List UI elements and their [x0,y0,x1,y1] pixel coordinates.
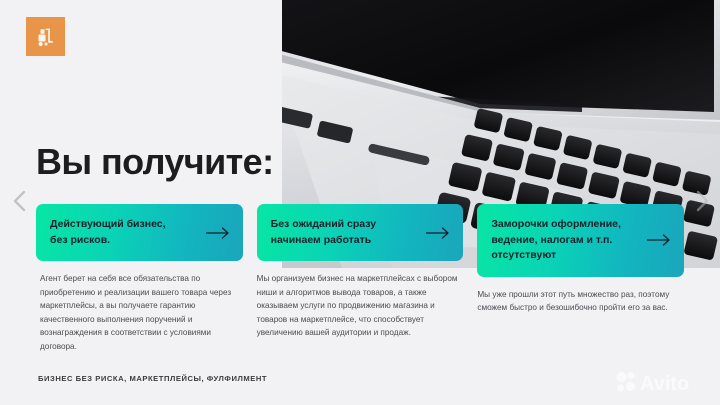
chevron-left-icon [6,186,34,216]
benefit-card-3[interactable]: Заморочки оформление, ведение, налогам и… [477,204,684,277]
footer-tags: БИЗНЕС БЕЗ РИСКА, МАРКЕТПЛЕЙСЫ, ФУЛФИЛМЕ… [38,374,267,383]
benefit-card-1[interactable]: Действующий бизнес, без рисков. [36,204,243,261]
benefit-body-text: Мы уже прошли этот путь множество раз, п… [477,288,684,315]
benefit-body-text: Мы организуем бизнес на маркетплейсах с … [257,272,464,340]
benefit-column-3: Заморочки оформление, ведение, налогам и… [477,204,684,354]
benefit-card-title: Без ожиданий сразу начинаем работать [271,217,376,248]
avito-wordmark: Avito [640,373,689,395]
chevron-right-icon [688,186,716,216]
benefit-body-text: Агент берет на себя все обязательства по… [36,272,243,354]
arrow-right-icon [426,227,452,239]
arrow-right-icon [647,234,673,246]
forklift-icon [34,25,58,49]
benefit-card-2[interactable]: Без ожиданий сразу начинаем работать [257,204,464,261]
slide-container: Вы получите: Действующий бизнес, без рис… [0,0,720,405]
benefit-column-1: Действующий бизнес, без рисков. Агент бе… [36,204,243,354]
avito-watermark: Avito [614,368,710,396]
benefit-card-title: Заморочки оформление, ведение, налогам и… [491,217,621,264]
arrow-right-icon [206,227,232,239]
benefit-card-title: Действующий бизнес, без рисков. [50,217,166,248]
benefits-columns: Действующий бизнес, без рисков. Агент бе… [36,204,684,354]
brand-logo-badge [26,17,65,56]
carousel-prev-button[interactable] [6,186,34,216]
benefit-column-2: Без ожиданий сразу начинаем работать Мы … [257,204,464,354]
page-title: Вы получите: [36,140,273,184]
carousel-next-button[interactable] [688,186,716,216]
